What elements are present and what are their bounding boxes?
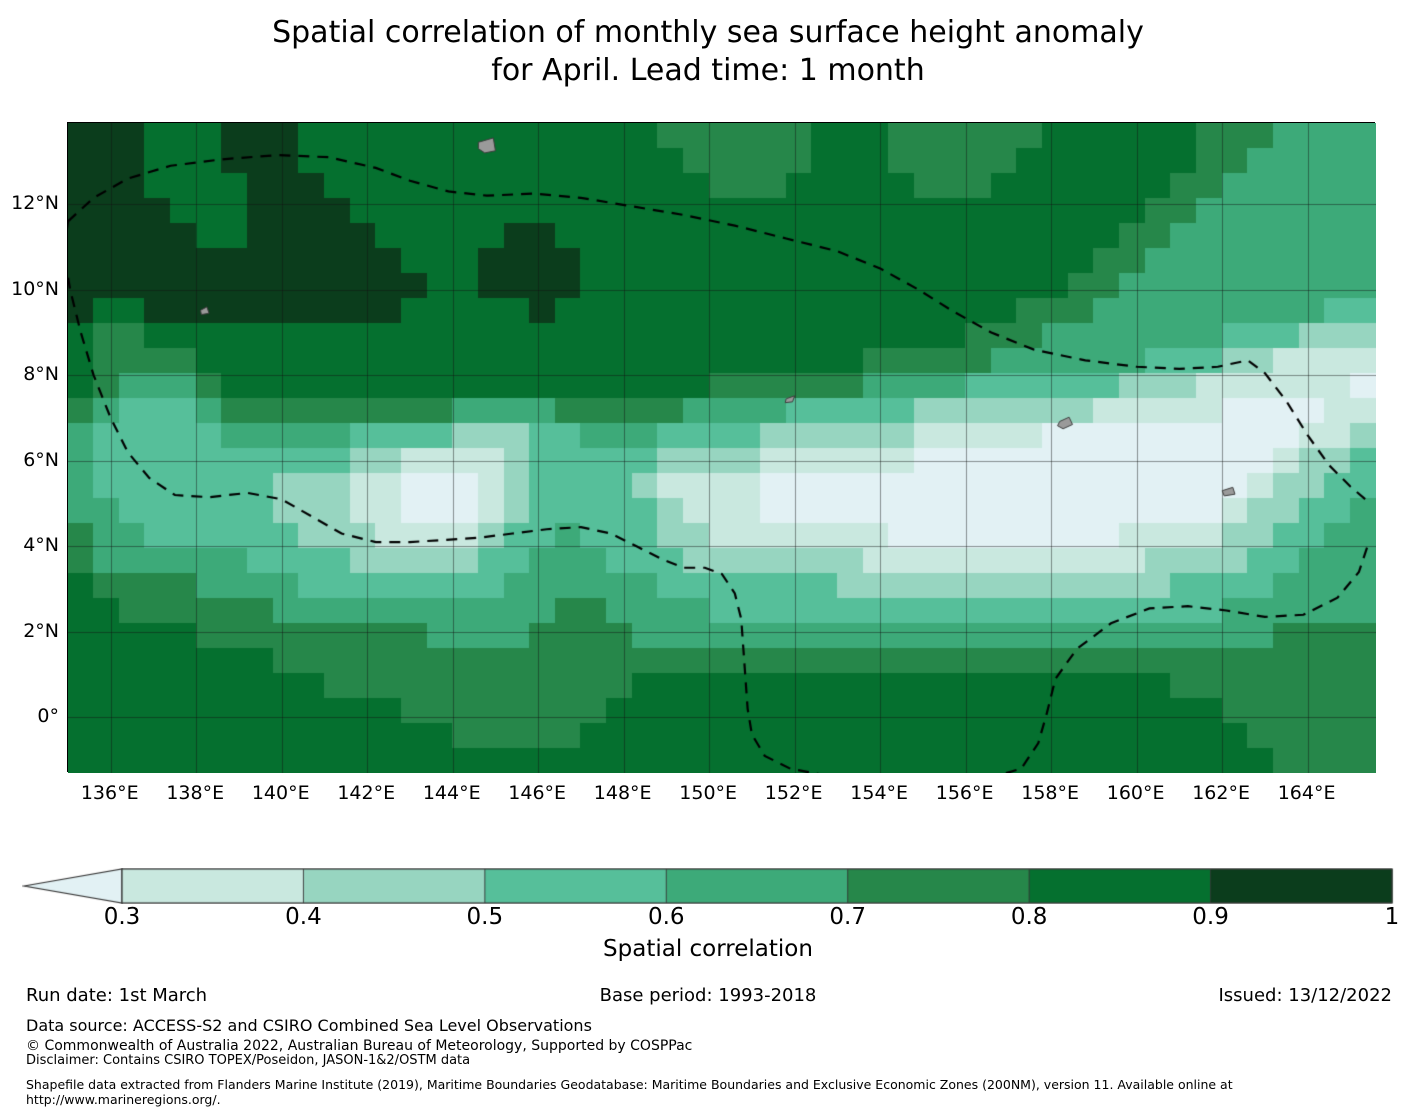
y-tick-label: 10°N: [1, 280, 59, 299]
colorbar-tick-label: 0.7: [803, 906, 893, 929]
issued-date-text: Issued: 13/12/2022: [1218, 985, 1392, 1006]
colorbar-label: Spatial correlation: [0, 936, 1416, 962]
y-tick-label: 4°N: [1, 536, 59, 555]
x-tick-label: 164°E: [1262, 784, 1352, 803]
colorbar-tick-label: 0.9: [1166, 906, 1256, 929]
colorbar-tick-label: 0.6: [621, 906, 711, 929]
x-tick-label: 146°E: [492, 784, 582, 803]
chart-title: Spatial correlation of monthly sea surfa…: [0, 14, 1416, 90]
x-tick-label: 144°E: [407, 784, 497, 803]
figure-root: Spatial correlation of monthly sea surfa…: [0, 0, 1416, 1095]
y-tick-label: 12°N: [1, 194, 59, 213]
colorbar-gradient: [22, 868, 1394, 904]
x-tick-label: 154°E: [834, 784, 924, 803]
copyright-text: © Commonwealth of Australia 2022, Austra…: [26, 1038, 692, 1054]
x-tick-label: 138°E: [150, 784, 240, 803]
map-overlay-grid-coastlines-eez: [68, 123, 1376, 773]
x-tick-label: 156°E: [920, 784, 1010, 803]
x-tick-label: 150°E: [663, 784, 753, 803]
colorbar-tick-label: 0.8: [984, 906, 1074, 929]
x-tick-label: 162°E: [1176, 784, 1266, 803]
x-tick-label: 148°E: [578, 784, 668, 803]
x-tick-label: 142°E: [321, 784, 411, 803]
disclaimer-text: Disclaimer: Contains CSIRO TOPEX/Poseido…: [26, 1053, 470, 1068]
footer: Run date: 1st March Base period: 1993-20…: [0, 980, 1416, 1095]
colorbar[interactable]: 0.30.40.50.60.70.80.91 Spatial correlati…: [0, 862, 1416, 982]
x-tick-label: 158°E: [1005, 784, 1095, 803]
colorbar-tick-label: 0.3: [77, 906, 167, 929]
y-tick-label: 0°: [1, 707, 59, 726]
map-plot-area[interactable]: [67, 122, 1375, 772]
y-tick-label: 8°N: [1, 365, 59, 384]
data-source-text: Data source: ACCESS-S2 and CSIRO Combine…: [26, 1016, 592, 1035]
y-tick-label: 2°N: [1, 622, 59, 641]
x-tick-label: 136°E: [65, 784, 155, 803]
y-tick-label: 6°N: [1, 451, 59, 470]
base-period-text: Base period: 1993-2018: [0, 985, 1416, 1006]
colorbar-tick-label: 0.5: [440, 906, 530, 929]
colorbar-tick-label: 0.4: [258, 906, 348, 929]
shapefile-credit-text: Shapefile data extracted from Flanders M…: [26, 1077, 1416, 1107]
x-tick-label: 140°E: [236, 784, 326, 803]
x-tick-label: 152°E: [749, 784, 839, 803]
x-tick-label: 160°E: [1091, 784, 1181, 803]
colorbar-tick-label: 1: [1347, 906, 1416, 929]
